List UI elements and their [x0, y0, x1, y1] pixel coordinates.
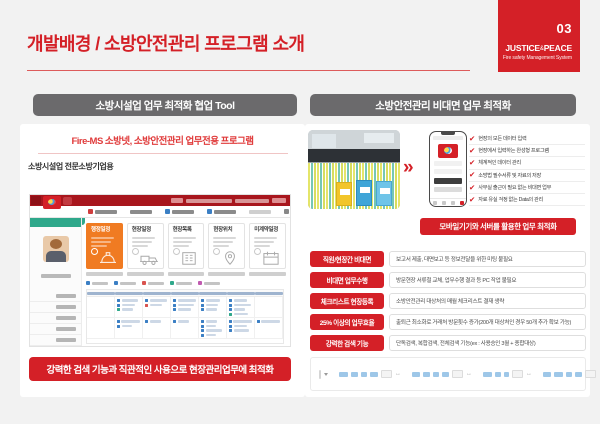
- slide-root: 03 JUSTICE&PEACE Fire safety Management …: [0, 0, 600, 424]
- slide-number-badge: 03 JUSTICE&PEACE Fire safety Management …: [498, 0, 580, 72]
- feature-description: 단독검색, 복합검색, 전체검색 기능(ex : 사용승인 3월 + 종합대상): [389, 335, 586, 351]
- list-item: ✔ 현장의 모든 데이터 입력: [469, 133, 585, 145]
- list-item: 체크리스트 현장등록 소방안전관리 대상처의 매월 체크리스트 결재 생략: [310, 293, 586, 309]
- dashboard-card[interactable]: 현장위치: [208, 223, 245, 269]
- app-topbar: [30, 195, 290, 206]
- calendar-cell[interactable]: [143, 297, 171, 317]
- calendar-cell[interactable]: [227, 297, 255, 317]
- checklist-label: 자료 유실 걱정 없는 Data의 관리: [478, 196, 543, 203]
- nav-label-2: [130, 210, 152, 214]
- search-term-group[interactable]: ↔: [339, 370, 401, 378]
- dashboard-card[interactable]: 현장목록: [168, 223, 205, 269]
- feature-description: 방문현장 서류철 교체, 업무수행 결과 등 PC 작업 불필요: [389, 272, 586, 288]
- phone-tab-icon-active[interactable]: [460, 201, 464, 205]
- card-footer-label: [127, 272, 164, 276]
- calendar-cell[interactable]: [199, 297, 227, 317]
- nav-label-4: [214, 210, 236, 214]
- check-icon: ✔: [469, 135, 475, 143]
- dashboard-card-title: 현장위치: [213, 228, 240, 234]
- mobile-optimization-banner: 모바일기기와 서버를 활용한 업무 최적화: [420, 218, 576, 235]
- app-topbar-status: [171, 198, 286, 203]
- list-item: 비대면 업무수행 방문현장 서류철 교체, 업무수행 결과 등 PC 작업 불필…: [310, 272, 586, 288]
- photo-yellow-box: [336, 182, 352, 206]
- calendar-day-header: [115, 292, 143, 295]
- mobile-app-login-screen: [429, 131, 467, 207]
- table-row[interactable]: [87, 297, 283, 318]
- list-item: ✔ 소방법 필수서류 및 자료의 저장: [469, 170, 585, 182]
- fire-ms-desktop-screenshot: 행정일정 현장일정 현장목록: [29, 194, 291, 347]
- feature-tag: 강력한 검색 기능: [310, 335, 384, 351]
- calendar-day-header: [255, 292, 283, 295]
- phone-notch: [441, 132, 455, 135]
- nav-label-3: [172, 210, 194, 214]
- phone-url-bar[interactable]: [433, 136, 463, 140]
- phone-password-field[interactable]: [434, 169, 462, 174]
- sidebar-item-3[interactable]: [30, 313, 81, 324]
- calendar-cell[interactable]: [87, 318, 115, 338]
- phone-secondary-button[interactable]: [434, 187, 462, 192]
- app-status-text: [186, 199, 232, 203]
- avatar-name: [30, 265, 81, 283]
- avatar: [43, 236, 69, 262]
- brand-tagline: Fire safety Management System: [498, 55, 572, 61]
- card-footer-label: [208, 272, 245, 276]
- checklist-label: 현장에서 입력하는 완성형 프로그램: [478, 147, 549, 154]
- calendar-cell[interactable]: [255, 318, 283, 338]
- card-footer-label: [86, 272, 123, 276]
- dashboard-card-desc: [213, 237, 240, 248]
- nav-item-2[interactable]: [130, 210, 152, 214]
- dashboard-card[interactable]: 미계약일정: [249, 223, 286, 269]
- phone-login-button[interactable]: [434, 178, 462, 184]
- sidebar-item-1[interactable]: [30, 291, 81, 302]
- firefighter-helmet-icon: [97, 250, 119, 266]
- photo-blue-box: [356, 180, 372, 206]
- left-panel-header: 소방시설업 업무 최적화 협업 Tool: [33, 94, 297, 116]
- app-logout-button[interactable]: [272, 198, 286, 203]
- checklist-label: 현장의 모든 데이터 입력: [478, 135, 526, 142]
- sidebar-item-4[interactable]: [30, 324, 81, 335]
- phone-id-field[interactable]: [434, 161, 462, 166]
- card-footer-label: [249, 272, 286, 276]
- check-icon: ✔: [469, 159, 475, 167]
- photo-window-2: [364, 133, 394, 143]
- app-topbar-square: [31, 196, 41, 205]
- phone-tab-icon[interactable]: [451, 201, 455, 205]
- dashboard-card-desc: [254, 237, 281, 248]
- calendar-cell[interactable]: [87, 297, 115, 317]
- legend-entry: [170, 281, 192, 285]
- calendar-cell[interactable]: [115, 297, 143, 317]
- calendar-icon: [260, 250, 282, 266]
- phone-tab-bar[interactable]: [430, 198, 466, 206]
- calendar-cell[interactable]: [143, 318, 171, 338]
- app-sidebar-accent: [30, 218, 81, 227]
- check-icon: ✔: [469, 184, 475, 192]
- app-sidebar-menu[interactable]: [30, 291, 81, 346]
- app-sidebar: [30, 218, 82, 346]
- right-panel-header: 소방안전관리 비대면 업무 최적화: [310, 94, 576, 116]
- feature-description: 출퇴근 최소화로 거래처 방문횟수 증가(200개 대상처인 경우 50개 추가…: [389, 314, 586, 330]
- feature-tag: 체크리스트 현장등록: [310, 293, 384, 309]
- search-term-group[interactable]: ↔: [483, 370, 532, 378]
- phone-tab-icon[interactable]: [442, 201, 446, 205]
- app-dashboard-cards: 행정일정 현장일정 현장목록: [86, 223, 286, 269]
- dashboard-card[interactable]: 현장일정: [127, 223, 164, 269]
- dashboard-card-desc: [91, 237, 118, 248]
- calendar-day-header: [227, 292, 255, 295]
- left-panel-subtitle: Fire-MS 소방넷, 소방안전관리 업무전용 프로그램: [20, 133, 305, 147]
- chevron-right-icon: »: [403, 158, 409, 177]
- nav-label-5: [249, 210, 271, 214]
- dashboard-card[interactable]: 행정일정: [86, 223, 123, 269]
- benefits-checklist: ✔ 현장의 모든 데이터 입력 ✔ 현장에서 입력하는 완성형 프로그램 ✔ 체…: [469, 133, 585, 206]
- legend-entry: [114, 281, 136, 285]
- feature-list: 직원/현장간 비대면 보고서 제출, 대면보고 등 정보전달을 위한 미팅 불필…: [310, 251, 586, 356]
- table-row[interactable]: [87, 318, 283, 339]
- building-icon: [178, 250, 200, 266]
- legend-entry: [86, 281, 108, 285]
- list-item: ✔ 사무실 출근이 필요 없는 비대면 업무: [469, 182, 585, 194]
- nav-icon-4: [207, 209, 212, 214]
- list-item: ✔ 현장에서 입력하는 완성형 프로그램: [469, 145, 585, 157]
- brand-name-part1: JUSTICE: [505, 43, 540, 53]
- dashboard-card-title: 행정일정: [91, 228, 118, 234]
- phone-tab-icon[interactable]: [433, 201, 437, 205]
- fire-truck-icon: [138, 250, 160, 266]
- check-icon: ✔: [469, 196, 475, 204]
- app-logo-icon: [43, 196, 61, 209]
- photo-desk: [308, 149, 400, 162]
- feature-description: 보고서 제출, 대면보고 등 정보전달을 위한 미팅 불필요: [389, 251, 586, 267]
- app-status-pill: [171, 198, 183, 203]
- feature-tag: 직원/현장간 비대면: [310, 251, 384, 267]
- title-divider: [27, 70, 470, 71]
- brand-name: JUSTICE&PEACE: [498, 43, 572, 53]
- photo-window: [312, 134, 336, 148]
- calendar-cell[interactable]: [171, 297, 199, 317]
- app-status-text-2: [235, 199, 269, 203]
- dashboard-card-title: 미계약일정: [254, 228, 281, 234]
- calendar-cell[interactable]: [227, 318, 255, 338]
- page-title: 개발배경 / 소방안전관리 프로그램 소개: [27, 30, 304, 56]
- app-topbar-square-2: [63, 197, 72, 205]
- nav-item-4[interactable]: [207, 209, 236, 214]
- dashboard-card-desc: [173, 237, 200, 248]
- calendar-cell[interactable]: [199, 318, 227, 338]
- feature-tag: 25% 이상의 업무효율: [310, 314, 384, 330]
- legend-entry: [198, 281, 220, 285]
- map-pin-icon: [219, 250, 241, 266]
- nav-label-1: [95, 210, 117, 214]
- calendar-header-row: [87, 290, 283, 297]
- calendar-cell[interactable]: [171, 318, 199, 338]
- checklist-label: 소방법 필수서류 및 자료의 저장: [478, 172, 541, 179]
- list-item: ✔ 자료 유실 걱정 없는 Data의 관리: [469, 194, 585, 206]
- slide-number: 03: [498, 22, 572, 36]
- sidebar-item-2[interactable]: [30, 302, 81, 313]
- search-term-group[interactable]: ↔: [543, 370, 600, 378]
- calendar-day-header: [87, 292, 115, 295]
- left-panel-banner: 강력한 검색 기능과 직관적인 사용으로 현장관리업무에 최적화: [29, 357, 291, 381]
- feature-tag: 비대면 업무수행: [310, 272, 384, 288]
- nav-item-1[interactable]: [88, 209, 117, 214]
- check-icon: ✔: [469, 147, 475, 155]
- brand-name-part2: PEACE: [544, 43, 572, 53]
- calendar-day-header: [199, 292, 227, 295]
- photo-lightblue-box: [376, 181, 392, 206]
- app-logo-icon: [438, 144, 458, 158]
- list-item: 강력한 검색 기능 단독검색, 복합검색, 전체검색 기능(ex : 사용승인 …: [310, 335, 586, 351]
- app-main-nav[interactable]: [30, 206, 290, 218]
- calendar-day-header: [143, 292, 171, 295]
- list-item: 직원/현장간 비대면 보고서 제출, 대면보고 등 정보전달을 위한 미팅 불필…: [310, 251, 586, 267]
- calendar-cell[interactable]: [115, 318, 143, 338]
- card-footer-label: [168, 272, 205, 276]
- calendar-legend: [86, 281, 284, 285]
- left-subtitle-divider: [38, 153, 288, 154]
- dashboard-card-title: 현장목록: [173, 228, 200, 234]
- legend-entry: [142, 281, 164, 285]
- check-icon: ✔: [469, 171, 475, 179]
- search-filter-bar-screenshot: ↔ ↔ ↔ ↔ ↔: [310, 357, 586, 391]
- list-item: 25% 이상의 업무효율 출퇴근 최소화로 거래처 방문횟수 증가(200개 대…: [310, 314, 586, 330]
- nav-item-5[interactable]: [249, 210, 271, 214]
- list-item: ✔ 체계적인 데이터 관리: [469, 157, 585, 169]
- nav-icon-3: [165, 209, 170, 214]
- office-document-folders-photo: [308, 130, 400, 209]
- calendar-day-header: [171, 292, 199, 295]
- search-scope-select[interactable]: [319, 370, 321, 379]
- dashboard-card-desc: [132, 237, 159, 248]
- feature-description: 소방안전관리 대상처의 매월 체크리스트 결재 생략: [389, 293, 586, 309]
- sidebar-item-5[interactable]: [30, 335, 81, 346]
- dashboard-card-footer-labels: [86, 272, 286, 276]
- nav-icon-6: [284, 209, 289, 214]
- chevron-down-icon: [324, 373, 328, 376]
- nav-icon-1: [88, 209, 93, 214]
- left-panel-caption: 소방시설업 전문소방기업용: [28, 161, 113, 172]
- dashboard-card-title: 현장일정: [132, 228, 159, 234]
- search-term-group[interactable]: ↔: [412, 370, 472, 378]
- nav-item-3[interactable]: [165, 209, 194, 214]
- checklist-label: 체계적인 데이터 관리: [478, 159, 521, 166]
- schedule-calendar-table[interactable]: [86, 289, 284, 344]
- calendar-cell[interactable]: [255, 297, 283, 317]
- checklist-label: 사무실 출근이 필요 없는 비대면 업무: [478, 184, 551, 191]
- nav-item-6[interactable]: [284, 209, 291, 214]
